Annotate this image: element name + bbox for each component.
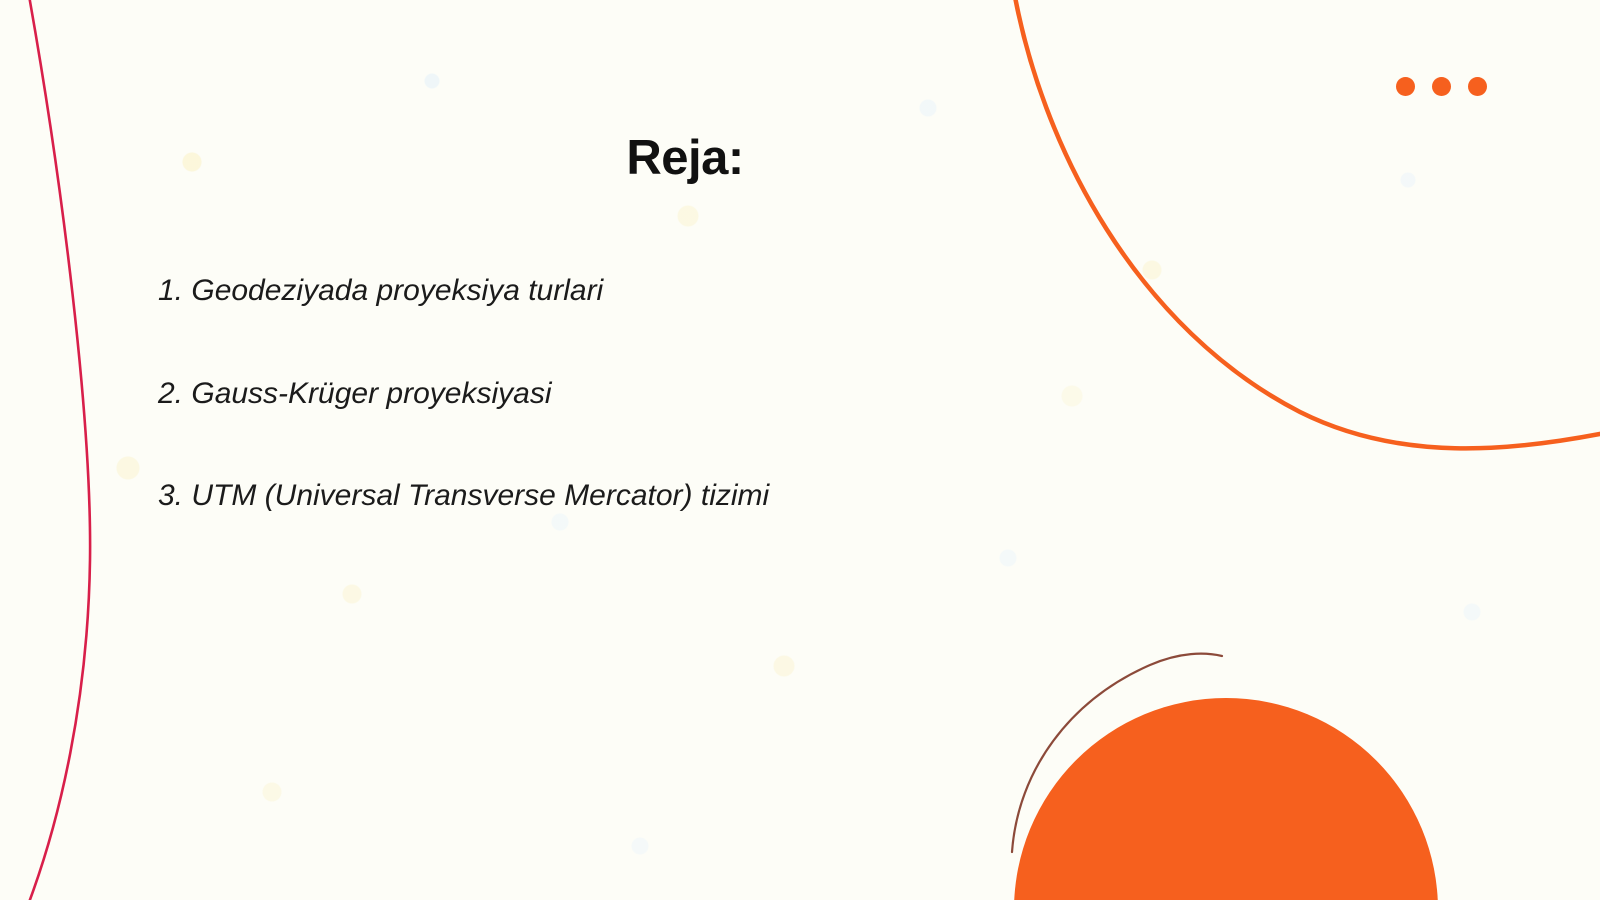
dots-group: [1396, 77, 1487, 96]
agenda-item-1: 1. Geodeziyada proyeksiya turlari: [158, 272, 1058, 310]
slide-canvas: Reja: 1. Geodeziyada proyeksiya turlari …: [0, 0, 1600, 900]
slide-title: Reja:: [0, 130, 1370, 186]
dot-1-icon: [1396, 77, 1415, 96]
dot-3-icon: [1468, 77, 1487, 96]
agenda-list: 1. Geodeziyada proyeksiya turlari 2. Gau…: [158, 272, 1058, 515]
bottom-right-thin-arc-shape: [1012, 654, 1222, 852]
dot-2-icon: [1432, 77, 1451, 96]
agenda-item-3: 3. UTM (Universal Transverse Mercator) t…: [158, 477, 1058, 515]
agenda-item-2: 2. Gauss-Krüger proyeksiyasi: [158, 375, 1058, 413]
bottom-right-orange-circle-shape: [1014, 698, 1438, 900]
top-right-orange-arc-shape: [1012, 0, 1600, 448]
